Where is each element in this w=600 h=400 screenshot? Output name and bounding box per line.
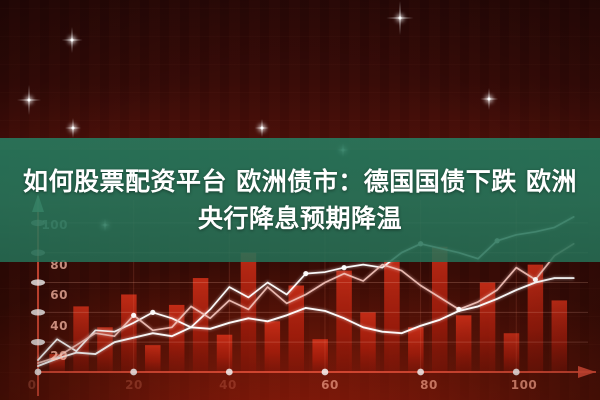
x-tick-20: 20 <box>117 378 151 392</box>
x-tick-60: 60 <box>313 378 347 392</box>
news-thumbnail-image: 100 80 60 40 20 0 20 40 60 80 100 如何股票配资… <box>0 0 600 400</box>
headline-line-1: 如何股票配资平台 欧洲债市：德国国债下跌 欧洲 <box>23 165 577 198</box>
y-tick-40: 40 <box>30 319 68 333</box>
y-tick-60: 60 <box>30 288 68 302</box>
headline-text-block: 如何股票配资平台 欧洲债市：德国国债下跌 欧洲 央行降息预期降温 <box>0 138 600 262</box>
x-tick-40: 40 <box>211 378 245 392</box>
headline-line-2: 央行降息预期降温 <box>198 202 402 235</box>
y-tick-20: 20 <box>30 349 68 363</box>
x-tick-0: 0 <box>15 378 49 392</box>
x-tick-100: 100 <box>504 378 544 392</box>
x-tick-80: 80 <box>412 378 446 392</box>
